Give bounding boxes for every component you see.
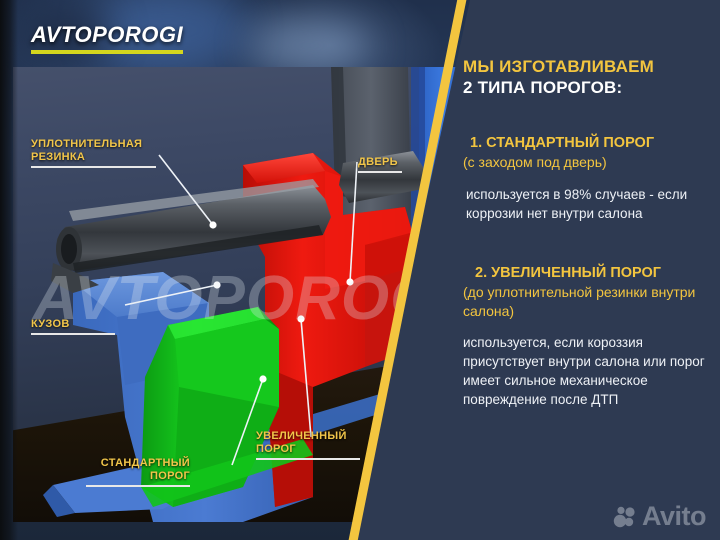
panel-heading-line1: МЫ ИЗГОТАВЛИВАЕМ — [463, 56, 706, 77]
avito-dots-icon — [613, 505, 637, 529]
section-standard: 1. СТАНДАРТНЫЙ ПОРОГ (с заходом под двер… — [463, 134, 706, 223]
diagram-photo-area: AVTOPOROGI УПЛОТНИТЕЛЬНАЯ РЕЗИНКА КУЗОВ … — [0, 0, 470, 540]
section-extended: 2. УВЕЛИЧЕННЫЙ ПОРОГ (до уплотнительной … — [463, 264, 706, 409]
label-door: ДВЕРЬ — [358, 143, 402, 186]
label-standard-sill-text: СТАНДАРТНЫЙ ПОРОГ — [101, 457, 190, 482]
brand-logo-text: AVTOPOROGI — [31, 22, 183, 48]
label-extended-sill-text: УВЕЛИЧЕННЫЙ ПОРОГ — [256, 430, 347, 455]
info-panel-content: МЫ ИЗГОТАВЛИВАЕМ 2 ТИПА ПОРОГОВ: 1. СТАН… — [415, 0, 720, 409]
label-seal-text: УПЛОТНИТЕЛЬНАЯ РЕЗИНКА — [31, 138, 142, 163]
background-glow-2 — [250, 18, 370, 73]
label-extended-sill: УВЕЛИЧЕННЫЙ ПОРОГ — [256, 417, 360, 473]
infographic-canvas: AVTOPOROGI УПЛОТНИТЕЛЬНАЯ РЕЗИНКА КУЗОВ … — [0, 0, 720, 540]
label-seal-underline — [31, 166, 156, 168]
section-extended-body: используется, если короззия присутствует… — [463, 333, 706, 409]
section-extended-title: 2. УВЕЛИЧЕННЫЙ ПОРОГ — [463, 264, 706, 283]
info-panel: МЫ ИЗГОТАВЛИВАЕМ 2 ТИПА ПОРОГОВ: 1. СТАН… — [470, 0, 720, 540]
panel-heading-line2: 2 ТИПА ПОРОГОВ: — [463, 77, 706, 98]
label-body-text: КУЗОВ — [31, 318, 70, 330]
label-body-underline — [31, 333, 115, 335]
avito-watermark: Avito — [613, 501, 706, 532]
avito-watermark-text: Avito — [642, 501, 706, 532]
label-extended-sill-underline — [256, 458, 360, 460]
section-standard-title: 1. СТАНДАРТНЫЙ ПОРОГ — [463, 134, 706, 153]
label-door-underline — [358, 171, 402, 173]
label-standard-sill: СТАНДАРТНЫЙ ПОРОГ — [86, 444, 190, 500]
label-seal: УПЛОТНИТЕЛЬНАЯ РЕЗИНКА — [31, 125, 156, 181]
label-door-text: ДВЕРЬ — [358, 156, 398, 168]
brand-logo-underline — [31, 50, 183, 54]
label-standard-sill-underline — [86, 485, 190, 487]
section-extended-subtitle: (до уплотнительной резинки внутри салона… — [463, 283, 706, 321]
brand-logo[interactable]: AVTOPOROGI — [31, 22, 183, 54]
panel-heading: МЫ ИЗГОТАВЛИВАЕМ 2 ТИПА ПОРОГОВ: — [463, 56, 706, 98]
section-standard-subtitle: (с заходом под дверь) — [463, 153, 706, 172]
section-standard-body: используется в 98% случаев - если корроз… — [463, 185, 706, 223]
label-body: КУЗОВ — [31, 305, 115, 348]
